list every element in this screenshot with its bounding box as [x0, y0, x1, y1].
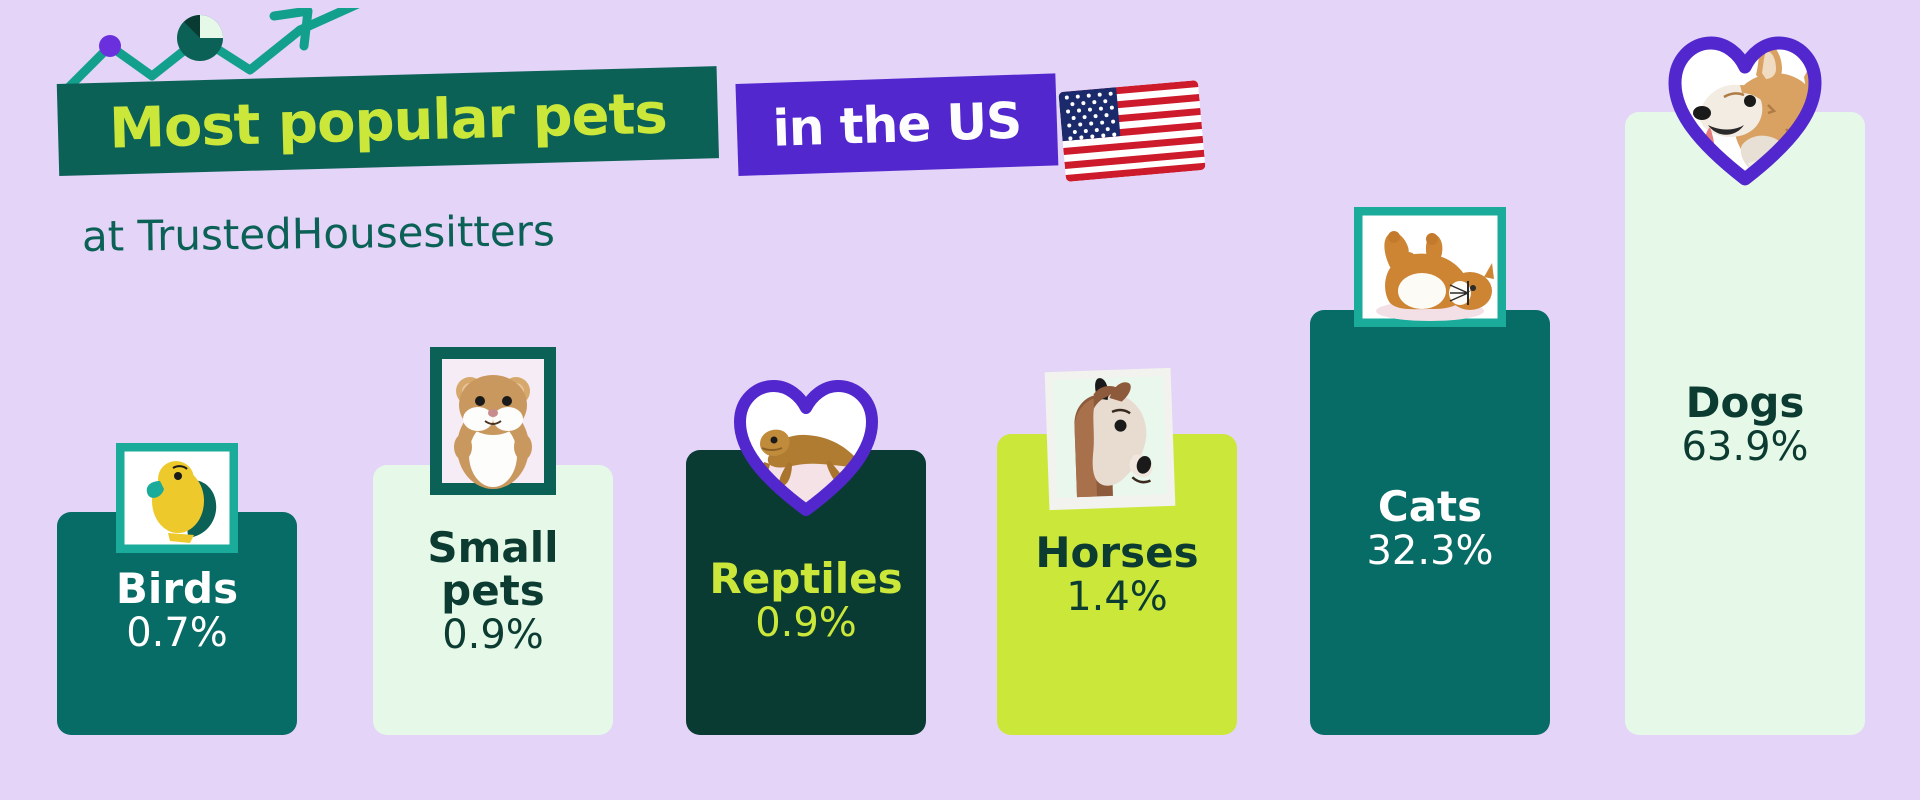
- us-flag-icon: [1053, 66, 1211, 196]
- bar-value-horses: 1.4%: [997, 575, 1237, 620]
- region-banner: in the US: [735, 73, 1058, 176]
- bar-small-pets[interactable]: Small pets 0.9%: [373, 465, 613, 735]
- region-badge: in the US: [735, 73, 1058, 176]
- bar-value-dogs: 63.9%: [1625, 425, 1865, 470]
- bar-dogs[interactable]: Dogs 63.9%: [1625, 112, 1865, 735]
- title-banner: Most popular pets: [57, 66, 719, 176]
- bar-label-cats: Cats: [1310, 486, 1550, 529]
- bar-value-small-pets: 0.9%: [373, 613, 613, 658]
- bar-value-reptiles: 0.9%: [686, 601, 926, 646]
- bar-label-small-pets: Small pets: [373, 527, 613, 613]
- page-title: Most popular pets: [57, 66, 719, 176]
- subtitle: at TrustedHousesitters: [82, 206, 555, 261]
- header: Most popular pets in the US: [0, 0, 1300, 300]
- hamster-photo-icon: [430, 347, 556, 495]
- infographic-canvas: Most popular pets in the US: [0, 0, 1920, 800]
- bar-label-reptiles: Reptiles: [686, 558, 926, 601]
- horse-photo-icon: [1043, 366, 1178, 512]
- bearded-dragon-heart-icon: [730, 372, 882, 517]
- parrot-photo-icon: [116, 443, 238, 553]
- bar-label-birds: Birds: [57, 568, 297, 611]
- cat-photo-icon: [1354, 207, 1506, 327]
- bar-label-dogs: Dogs: [1625, 382, 1865, 425]
- bar-cats[interactable]: Cats 32.3%: [1310, 310, 1550, 735]
- bar-label-horses: Horses: [997, 532, 1237, 575]
- corgi-heart-icon: [1664, 27, 1826, 187]
- bar-value-cats: 32.3%: [1310, 529, 1550, 574]
- bar-value-birds: 0.7%: [57, 611, 297, 656]
